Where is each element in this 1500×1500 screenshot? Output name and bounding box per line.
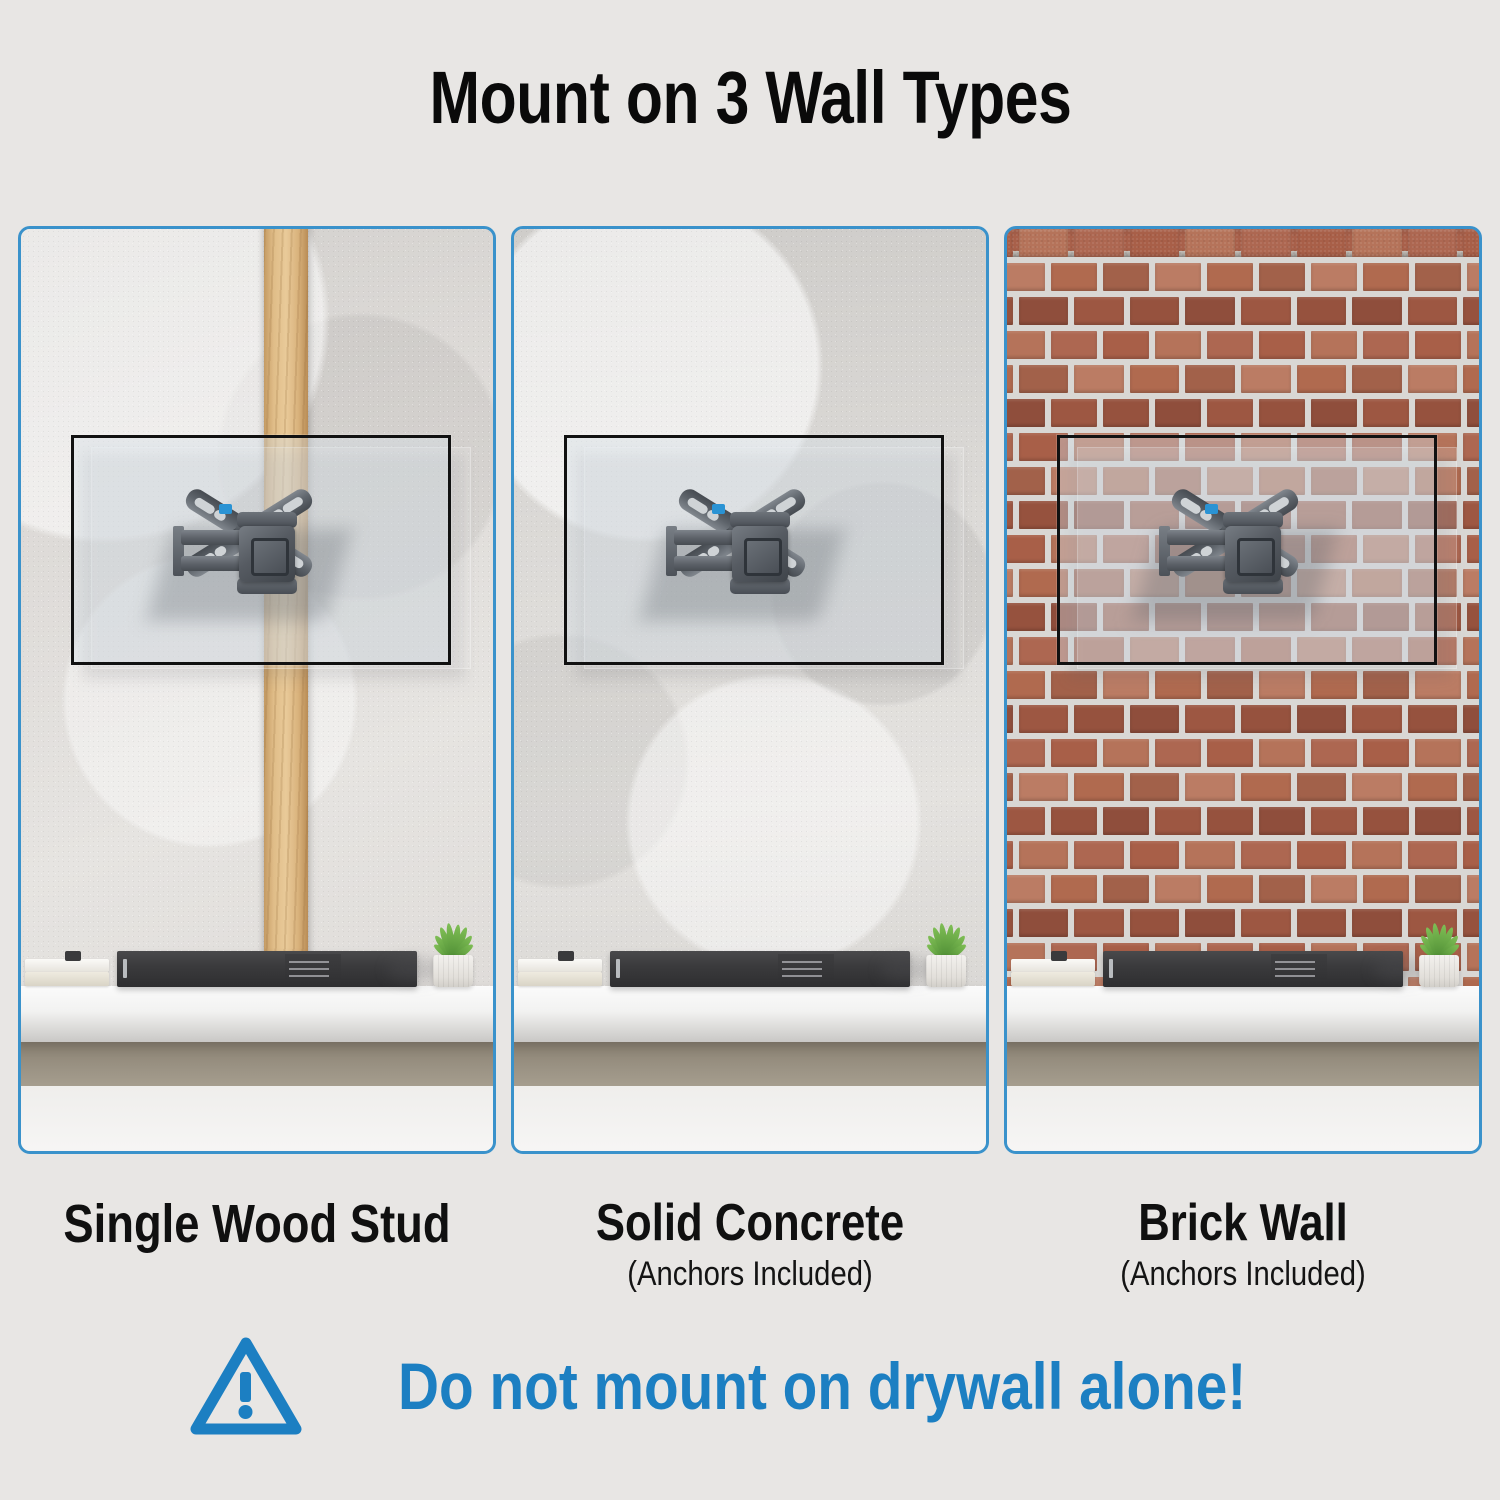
brick-row xyxy=(1004,773,1482,801)
potted-plant xyxy=(914,919,976,987)
brick xyxy=(1155,263,1201,291)
decor-object xyxy=(65,951,81,961)
brick xyxy=(1241,841,1291,869)
wall-band xyxy=(18,1042,496,1086)
brick xyxy=(1467,467,1482,495)
brick xyxy=(1297,909,1347,937)
brick xyxy=(1363,875,1409,903)
brick xyxy=(1051,739,1097,767)
soundbar-display xyxy=(778,954,834,984)
plant-pot xyxy=(433,955,473,987)
brick xyxy=(1415,875,1461,903)
soundbar-line xyxy=(782,968,822,970)
brick xyxy=(1311,263,1357,291)
caption-main-label: Solid Concrete xyxy=(549,1196,951,1251)
brick-row xyxy=(1004,365,1482,393)
brick xyxy=(1004,671,1045,699)
brick xyxy=(1074,365,1124,393)
brick xyxy=(1363,807,1409,835)
brick xyxy=(1297,841,1347,869)
brick xyxy=(1004,807,1045,835)
brick xyxy=(1207,399,1253,427)
brick xyxy=(1311,399,1357,427)
brick xyxy=(1415,399,1461,427)
tv-mount xyxy=(173,482,353,622)
brick xyxy=(1241,773,1291,801)
brick xyxy=(1130,841,1180,869)
brick xyxy=(1074,229,1124,257)
brick xyxy=(1463,841,1482,869)
brick xyxy=(1241,365,1291,393)
warning-triangle-icon xyxy=(185,1330,307,1442)
brick xyxy=(1259,875,1305,903)
brick xyxy=(1074,773,1124,801)
floating-shelf xyxy=(18,986,496,1042)
brick xyxy=(1467,603,1482,631)
panel-wood-stud[interactable] xyxy=(18,226,496,1154)
tv-mount xyxy=(666,482,846,622)
brick xyxy=(1103,739,1149,767)
brand-logo-accent xyxy=(219,504,232,514)
mount-vesa-plate xyxy=(732,526,788,582)
brick xyxy=(1004,773,1013,801)
soundbar xyxy=(610,951,910,987)
book-bottom xyxy=(518,972,602,986)
brick xyxy=(1241,909,1291,937)
book-stack xyxy=(25,959,109,987)
plant-pot xyxy=(926,955,966,987)
brick xyxy=(1207,807,1253,835)
brick xyxy=(1408,365,1458,393)
brick xyxy=(1467,875,1482,903)
brick xyxy=(1363,263,1409,291)
caption-main-label: Brick Wall xyxy=(1042,1196,1444,1251)
brick xyxy=(1130,773,1180,801)
brick xyxy=(1019,229,1069,257)
brick xyxy=(1155,807,1201,835)
brick xyxy=(1259,331,1305,359)
brick xyxy=(1311,875,1357,903)
brick xyxy=(1259,807,1305,835)
brick xyxy=(1103,807,1149,835)
panel-brick-wall[interactable] xyxy=(1004,226,1482,1154)
soundbar-line xyxy=(289,961,329,963)
brick xyxy=(1467,943,1482,971)
brick xyxy=(1185,705,1235,733)
brick-row xyxy=(1004,875,1482,903)
book-bottom xyxy=(1011,972,1095,986)
brick xyxy=(1207,875,1253,903)
brick xyxy=(1019,773,1069,801)
lower-wall xyxy=(511,1086,989,1154)
caption-main-label: Single Wood Stud xyxy=(56,1196,458,1253)
wall-type-panels xyxy=(18,226,1482,1154)
brick xyxy=(1004,841,1013,869)
brick xyxy=(1103,875,1149,903)
brick xyxy=(1130,365,1180,393)
brick xyxy=(1463,501,1482,529)
brick xyxy=(1467,331,1482,359)
brick xyxy=(1074,297,1124,325)
brick xyxy=(1297,705,1347,733)
brick xyxy=(1074,909,1124,937)
brick xyxy=(1352,297,1402,325)
brick xyxy=(1004,501,1013,529)
brick xyxy=(1004,467,1045,495)
page-title: Mount on 3 Wall Types xyxy=(429,55,1071,140)
brick xyxy=(1259,739,1305,767)
brick xyxy=(1185,297,1235,325)
brick xyxy=(1467,807,1482,835)
brick xyxy=(1051,263,1097,291)
brick xyxy=(1019,909,1069,937)
brick xyxy=(1130,229,1180,257)
brick xyxy=(1415,739,1461,767)
caption-brick-wall: Brick Wall (Anchors Included) xyxy=(1004,1196,1482,1306)
brick xyxy=(1004,875,1045,903)
caption-sub-label: (Anchors Included) xyxy=(1037,1255,1448,1293)
wall-band xyxy=(511,1042,989,1086)
potted-plant xyxy=(421,919,483,987)
brick xyxy=(1004,535,1045,563)
brick xyxy=(1155,875,1201,903)
lower-wall xyxy=(1004,1086,1482,1154)
potted-plant xyxy=(1407,919,1469,987)
brick xyxy=(1004,705,1013,733)
soundbar xyxy=(117,951,417,987)
brick xyxy=(1297,365,1347,393)
brick xyxy=(1352,773,1402,801)
brick xyxy=(1004,603,1045,631)
brick-row xyxy=(1004,331,1482,359)
brick xyxy=(1004,263,1045,291)
brick xyxy=(1408,773,1458,801)
brick xyxy=(1185,773,1235,801)
brick xyxy=(1004,569,1013,597)
panel-solid-concrete[interactable] xyxy=(511,226,989,1154)
brick xyxy=(1463,637,1482,665)
soundbar-line xyxy=(782,975,822,977)
decor-object xyxy=(558,951,574,961)
header: Mount on 3 Wall Types xyxy=(0,55,1500,140)
brick xyxy=(1185,909,1235,937)
brick xyxy=(1467,671,1482,699)
book-stack xyxy=(1011,959,1095,987)
book-bottom xyxy=(25,972,109,986)
warning-text: Do not mount on drywall alone! xyxy=(398,1348,1246,1424)
brick-row xyxy=(1004,263,1482,291)
brick xyxy=(1185,229,1235,257)
brick xyxy=(1415,263,1461,291)
brick xyxy=(1241,705,1291,733)
soundbar-line xyxy=(1275,961,1315,963)
brick-row xyxy=(1004,399,1482,427)
brick xyxy=(1467,739,1482,767)
soundbar-display xyxy=(285,954,341,984)
brick-row xyxy=(1004,297,1482,325)
brick xyxy=(1463,773,1482,801)
brick xyxy=(1241,229,1291,257)
brick xyxy=(1207,331,1253,359)
brick xyxy=(1297,297,1347,325)
brand-logo-accent xyxy=(1205,504,1218,514)
brick xyxy=(1155,399,1201,427)
tv-mount xyxy=(1159,482,1339,622)
soundbar-display xyxy=(1271,954,1327,984)
brick xyxy=(1004,909,1013,937)
brick-row xyxy=(1004,229,1482,257)
brick xyxy=(1297,229,1347,257)
brick xyxy=(1004,331,1045,359)
brick xyxy=(1408,297,1458,325)
soundbar-line xyxy=(1275,968,1315,970)
brick xyxy=(1004,637,1013,665)
brick xyxy=(1352,365,1402,393)
decor-object xyxy=(1051,951,1067,961)
brick xyxy=(1463,365,1482,393)
brick xyxy=(1051,399,1097,427)
plant-pot xyxy=(1419,955,1459,987)
brick xyxy=(1363,331,1409,359)
brick xyxy=(1408,229,1458,257)
brick xyxy=(1415,331,1461,359)
mount-vesa-plate xyxy=(239,526,295,582)
brick xyxy=(1019,841,1069,869)
brick xyxy=(1185,365,1235,393)
brick xyxy=(1004,433,1013,461)
brick xyxy=(1051,807,1097,835)
brick xyxy=(1155,739,1201,767)
brick xyxy=(1463,705,1482,733)
floating-shelf xyxy=(511,986,989,1042)
brick xyxy=(1311,739,1357,767)
brick xyxy=(1019,365,1069,393)
brick-row xyxy=(1004,739,1482,767)
soundbar-line xyxy=(782,961,822,963)
brick xyxy=(1467,399,1482,427)
brick xyxy=(1352,909,1402,937)
brand-logo-accent xyxy=(712,504,725,514)
brick xyxy=(1103,399,1149,427)
wall-band xyxy=(1004,1042,1482,1086)
brick xyxy=(1185,841,1235,869)
brick xyxy=(1352,841,1402,869)
brick xyxy=(1352,705,1402,733)
brick xyxy=(1051,331,1097,359)
brick xyxy=(1297,773,1347,801)
brick xyxy=(1311,807,1357,835)
brick xyxy=(1155,331,1201,359)
brick xyxy=(1074,705,1124,733)
floating-shelf xyxy=(1004,986,1482,1042)
brick xyxy=(1207,263,1253,291)
brick xyxy=(1463,297,1482,325)
mount-vesa-plate xyxy=(1225,526,1281,582)
brick xyxy=(1130,705,1180,733)
brick-row xyxy=(1004,705,1482,733)
panel-captions: Single Wood Stud Solid Concrete (Anchors… xyxy=(18,1196,1482,1306)
brick xyxy=(1408,705,1458,733)
brick xyxy=(1051,875,1097,903)
brick xyxy=(1415,807,1461,835)
brick xyxy=(1467,535,1482,563)
brick-row xyxy=(1004,841,1482,869)
brick xyxy=(1259,399,1305,427)
brick xyxy=(1363,739,1409,767)
brick xyxy=(1363,399,1409,427)
brick xyxy=(1019,705,1069,733)
brick xyxy=(1352,229,1402,257)
caption-wood-stud: Single Wood Stud xyxy=(18,1196,496,1306)
brick xyxy=(1019,297,1069,325)
brick xyxy=(1207,739,1253,767)
brick xyxy=(1004,399,1045,427)
brick xyxy=(1004,365,1013,393)
brick xyxy=(1241,297,1291,325)
brick-pattern xyxy=(1007,229,1479,257)
brick xyxy=(1004,739,1045,767)
warning-banner: Do not mount on drywall alone! xyxy=(0,1330,1500,1442)
soundbar-line xyxy=(289,968,329,970)
brick-row xyxy=(1004,807,1482,835)
brick xyxy=(1004,297,1013,325)
brick xyxy=(1311,331,1357,359)
brick xyxy=(1259,263,1305,291)
soundbar-line xyxy=(289,975,329,977)
soundbar-line xyxy=(1275,975,1315,977)
wall-surface-brick xyxy=(1007,229,1479,257)
brick xyxy=(1103,263,1149,291)
brick xyxy=(1130,297,1180,325)
brick xyxy=(1463,229,1482,257)
lower-wall xyxy=(18,1086,496,1154)
brick xyxy=(1463,433,1482,461)
soundbar xyxy=(1103,951,1403,987)
brick xyxy=(1074,841,1124,869)
brick xyxy=(1463,569,1482,597)
brick xyxy=(1130,909,1180,937)
brick xyxy=(1004,229,1013,257)
caption-sub-label: (Anchors Included) xyxy=(544,1255,955,1293)
brick xyxy=(1408,841,1458,869)
brick xyxy=(1103,331,1149,359)
brick xyxy=(1467,263,1482,291)
caption-solid-concrete: Solid Concrete (Anchors Included) xyxy=(511,1196,989,1306)
book-stack xyxy=(518,959,602,987)
